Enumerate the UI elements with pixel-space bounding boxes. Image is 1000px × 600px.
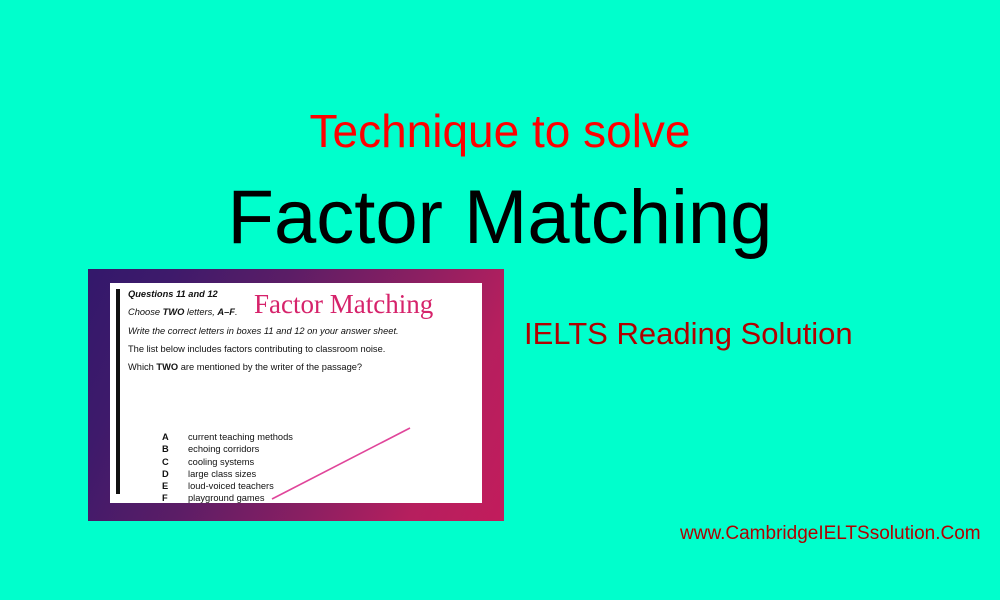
choose-instruction-range: A–F	[217, 307, 235, 317]
option-text: echoing corridors	[188, 444, 259, 454]
footer-website-url: www.CambridgeIELTSsolution.Com	[680, 524, 981, 543]
choose-instruction-mid: letters,	[184, 307, 217, 317]
option-text: large class sizes	[188, 469, 256, 479]
choose-instruction-post: .	[235, 307, 238, 317]
which-two-post: are mentioned by the writer of the passa…	[178, 362, 362, 372]
option-row: Acurrent teaching methods	[162, 431, 293, 443]
which-two-question: Which TWO are mentioned by the writer of…	[128, 363, 476, 372]
list-description: The list below includes factors contribu…	[128, 345, 476, 354]
option-text: current teaching methods	[188, 432, 293, 442]
page-title: Factor Matching	[0, 180, 1000, 256]
option-letter: E	[162, 480, 188, 492]
choose-instruction-two: TWO	[163, 307, 185, 317]
exam-card-inner: Questions 11 and 12 Choose TWO letters, …	[110, 283, 482, 503]
option-row: Ccooling systems	[162, 456, 293, 468]
card-overlay-title: Factor Matching	[254, 291, 433, 318]
option-text: cooling systems	[188, 457, 254, 467]
option-row: Eloud-voiced teachers	[162, 480, 293, 492]
option-row: Dlarge class sizes	[162, 468, 293, 480]
option-letter: C	[162, 456, 188, 468]
option-list: Acurrent teaching methodsBechoing corrid…	[162, 431, 293, 503]
subtitle-text: IELTS Reading Solution	[524, 318, 853, 349]
option-letter: D	[162, 468, 188, 480]
option-letter: B	[162, 443, 188, 455]
option-text: loud-voiced teachers	[188, 481, 274, 491]
which-two-bold: TWO	[156, 362, 178, 372]
option-row: Bechoing corridors	[162, 443, 293, 455]
option-text: playground games	[188, 493, 265, 503]
option-letter: F	[162, 492, 188, 503]
choose-instruction-pre: Choose	[128, 307, 163, 317]
which-two-pre: Which	[128, 362, 156, 372]
write-letters-instruction: Write the correct letters in boxes 11 an…	[128, 327, 476, 336]
exam-question-card: Questions 11 and 12 Choose TWO letters, …	[88, 269, 504, 521]
kicker-text: Technique to solve	[0, 108, 1000, 154]
option-letter: A	[162, 431, 188, 443]
option-row: Fplayground games	[162, 492, 293, 503]
left-rule-bar	[116, 289, 120, 494]
